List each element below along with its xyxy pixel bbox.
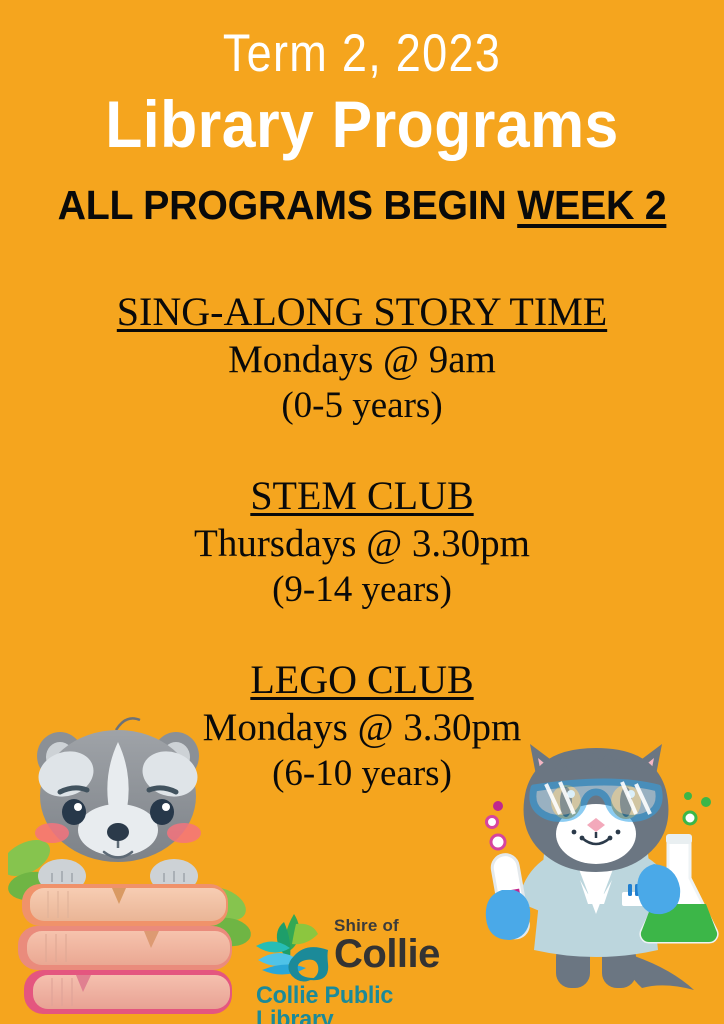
logo-collie-text: Collie (334, 934, 440, 975)
glove-left (486, 890, 530, 940)
begin-notice-prefix: ALL PROGRAMS BEGIN (58, 182, 518, 228)
page-title: Library Programs (29, 90, 695, 159)
logo-wordmark: Shire of Collie (334, 917, 440, 975)
program-schedule: Mondays @ 3.30pm (0, 705, 724, 751)
shire-of-collie-logo: Shire of Collie Collie Public Library (254, 910, 470, 1012)
book-stack (18, 884, 232, 1014)
program-ages: (0-5 years) (0, 384, 724, 428)
program-name: SING-ALONG STORY TIME (0, 288, 724, 335)
program-list: SING-ALONG STORY TIME Mondays @ 9am (0-5… (0, 288, 724, 796)
shire-leaf-spiral-logo-icon (254, 910, 332, 982)
logo-row: Shire of Collie (254, 910, 440, 982)
program-item: SING-ALONG STORY TIME Mondays @ 9am (0-5… (0, 288, 724, 428)
logo-library-text: Collie Public Library (256, 984, 464, 1024)
program-schedule: Mondays @ 9am (0, 337, 724, 383)
all-programs-begin-notice: ALL PROGRAMS BEGIN WEEK 2 (14, 182, 709, 229)
program-schedule: Thursdays @ 3.30pm (0, 521, 724, 567)
program-item: STEM CLUB Thursdays @ 3.30pm (9-14 years… (0, 472, 724, 612)
term-heading: Term 2, 2023 (54, 26, 669, 82)
program-name: LEGO CLUB (0, 656, 724, 703)
program-name: STEM CLUB (0, 472, 724, 519)
program-ages: (9-14 years) (0, 568, 724, 612)
begin-notice-week: WEEK 2 (517, 182, 666, 228)
program-ages: (6-10 years) (0, 752, 724, 796)
program-item: LEGO CLUB Mondays @ 3.30pm (6-10 years) (0, 656, 724, 796)
poster-canvas: Term 2, 2023 Library Programs ALL PROGRA… (0, 0, 724, 1024)
